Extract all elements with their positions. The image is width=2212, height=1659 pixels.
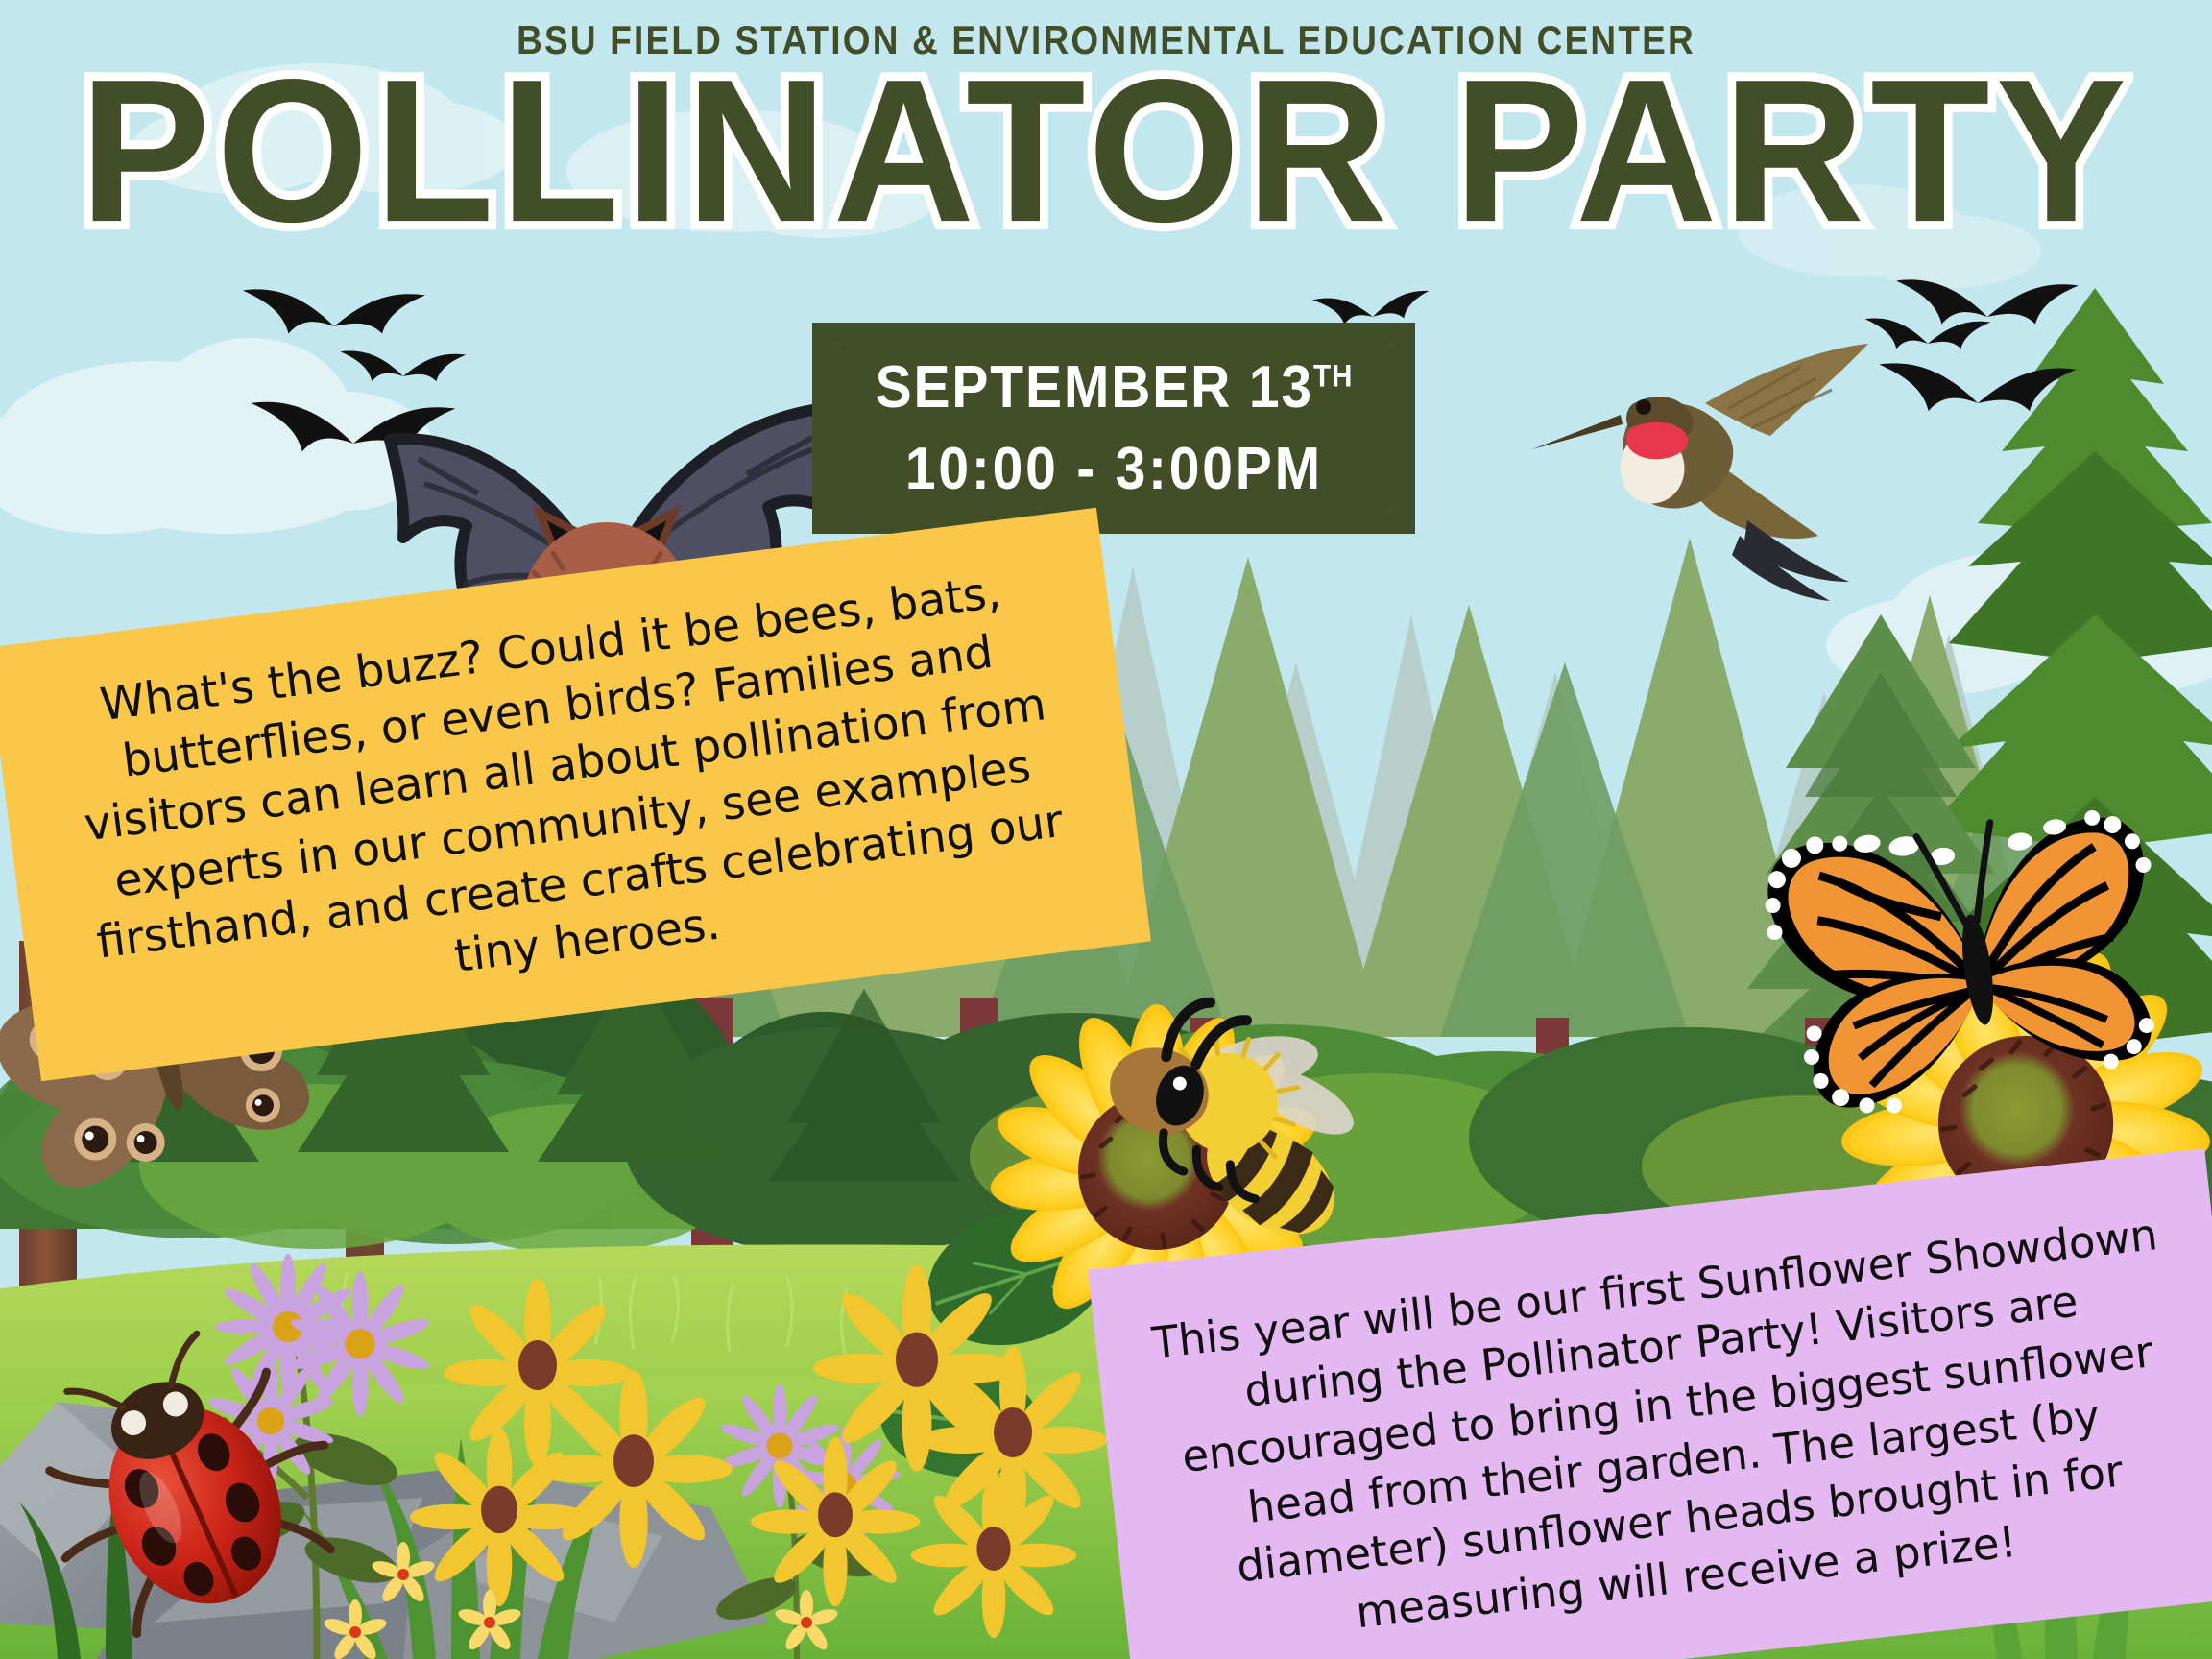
hummingbird-eye bbox=[1636, 399, 1651, 415]
ribbon-date-line: SEPTEMBER 13TH bbox=[875, 353, 1353, 421]
ribbon-text: SEPTEMBER 13TH 10:00 - 3:00PM bbox=[812, 323, 1415, 534]
ribbon-date-label: SEPTEMBER 13 bbox=[875, 354, 1312, 421]
ribbon-date-ordinal: TH bbox=[1312, 358, 1352, 393]
page-kicker: BSU FIELD STATION & ENVIRONMENTAL EDUCAT… bbox=[132, 17, 2080, 63]
callout-yellow-text: What's the buzz? Could it be bees, bats,… bbox=[36, 555, 1101, 1033]
callout-purple-text: This year will be our first Sunflower Sh… bbox=[1142, 1205, 2200, 1659]
date-ribbon: SEPTEMBER 13TH 10:00 - 3:00PM bbox=[812, 323, 1415, 534]
poster-canvas: BSU FIELD STATION & ENVIRONMENTAL EDUCAT… bbox=[0, 0, 2212, 1659]
ribbon-time-label: 10:00 - 3:00PM bbox=[905, 435, 1323, 503]
